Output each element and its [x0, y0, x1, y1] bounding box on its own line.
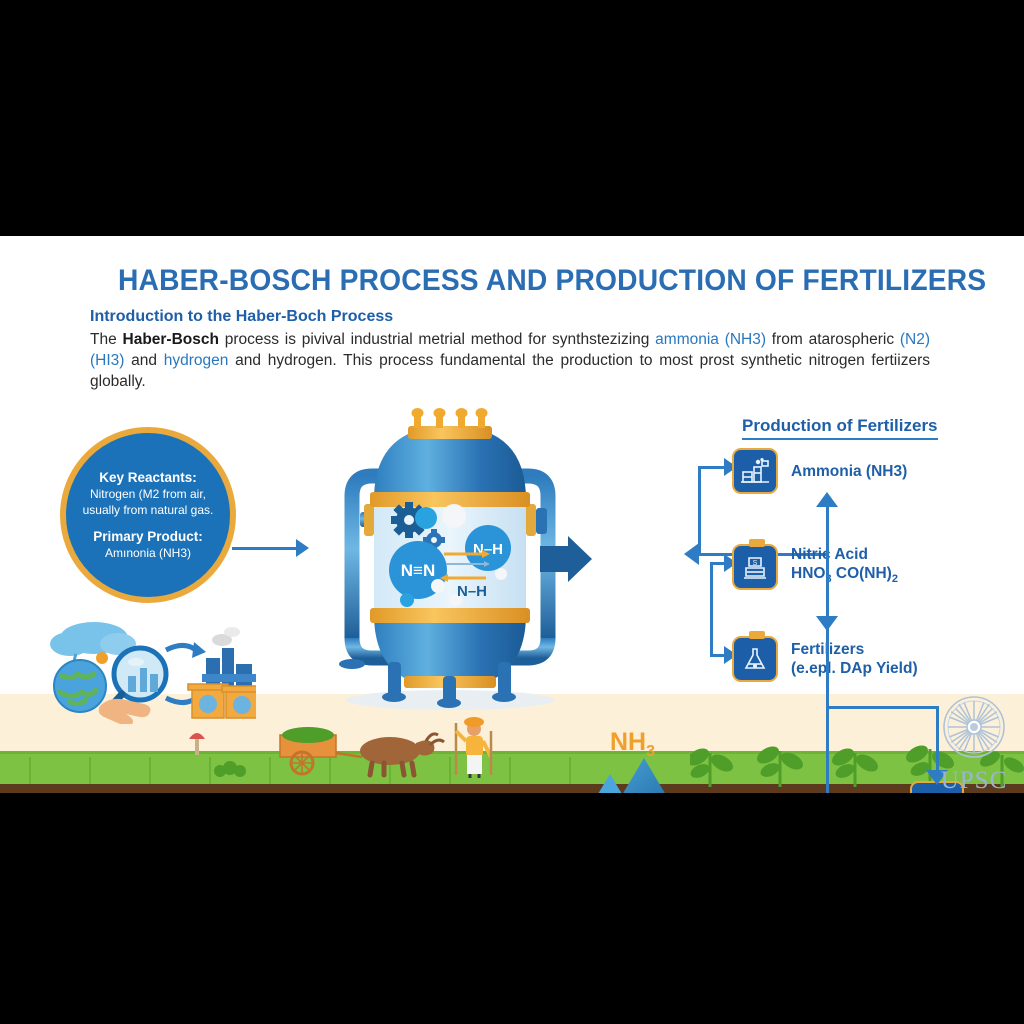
- production-label-fertilizers: Fertilizers (e.epl. DAp Yield): [791, 640, 918, 678]
- infographic-canvas: HABER-BOSCH PROCESS AND PRODUCTION OF FE…: [0, 236, 1024, 793]
- arrow-circle-to-reactor-line: [232, 547, 298, 550]
- recycler-downcomer: [826, 618, 829, 793]
- recycler-to-ammonia-head: [816, 492, 838, 507]
- upsc-logo: UPSC: [932, 694, 1016, 790]
- production-item-fertilizers[interactable]: Fertilizers (e.epl. DAp Yield): [732, 636, 918, 682]
- molecule-label-n2: N≡N: [401, 561, 435, 580]
- section-subtitle: Introduction to the Haber-Boch Process: [90, 308, 393, 326]
- column-trunk-lower: [710, 562, 713, 656]
- intro-seg-4: and: [124, 352, 163, 369]
- ashoka-chakra-icon: [941, 694, 1007, 760]
- haber-bosch-reactor: N≡N N–H N–H: [300, 408, 600, 718]
- molecule-label-nh-bottom: N–H: [457, 583, 487, 600]
- globe-icon: [54, 660, 106, 712]
- nitric-acid-formula: HNO3 CO(NH)2: [791, 564, 898, 589]
- intro-seg-1: The: [90, 331, 123, 348]
- page-title: HABER-BOSCH PROCESS AND PRODUCTION OF FE…: [118, 264, 879, 298]
- key-reactants-line1: Nitrogen (M2 from air,: [90, 487, 206, 502]
- primary-product-title: Primary Product:: [93, 529, 203, 545]
- factory-icon: [732, 448, 778, 494]
- key-reactants-line2: usually from natural gas.: [83, 503, 214, 518]
- arrow-nh3-to-column-head: [684, 543, 699, 565]
- intro-term-ammonia: ammonia (NH3): [655, 331, 766, 348]
- clipboard-clip-icon: [749, 631, 765, 639]
- cloud-icon: [50, 622, 136, 656]
- mushroom-icon: [186, 729, 208, 757]
- production-heading: Production of Fertilizers: [742, 416, 938, 440]
- clipboard-bag-icon: S: [732, 544, 778, 590]
- production-item-ammonia[interactable]: Ammonia (NH3): [732, 448, 907, 494]
- environment-illustration: [36, 614, 256, 724]
- key-reactants-title: Key Reactants:: [99, 470, 197, 486]
- oxcart-and-farmer: [276, 713, 506, 779]
- hand-icon: [99, 699, 151, 724]
- intro-paragraph: The Haber-Bosch process is pivival indus…: [90, 329, 930, 392]
- column-trunk-upper: [698, 466, 701, 554]
- environment-icon-group: [36, 614, 256, 724]
- branch-ammonia-line: [698, 466, 726, 469]
- factory-icon: [202, 627, 256, 692]
- production-item-nitric-acid[interactable]: S Nitric Acid HNO3 CO(NH)2: [732, 544, 898, 590]
- nh3-product-label: NH3 NH 3 3: [596, 728, 706, 793]
- svg-text:S: S: [753, 560, 758, 567]
- small-bush-icon: [212, 755, 248, 777]
- upsc-logo-text: UPSC: [932, 767, 1016, 793]
- clipboard-flask-icon: [732, 636, 778, 682]
- intro-seg-3: from atarosρheric: [766, 331, 900, 348]
- intro-seg-2: process is pivival industrial metrial me…: [219, 331, 655, 348]
- primary-product-line: Amınonia (NH3): [105, 546, 191, 561]
- intro-term-hydrogen: hydrogen: [164, 352, 229, 369]
- recycler-downcomer-head: [816, 616, 838, 631]
- production-label-nitric-acid: Nitric Acid HNO3 CO(NH)2: [791, 545, 898, 589]
- intro-term-haberbosch: Haber-Bosch: [123, 331, 219, 348]
- production-label-ammonia: Ammonia (NH3): [791, 462, 907, 481]
- reactor-illustration: N≡N N–H N–H: [300, 408, 600, 718]
- nh3-triangle-icon: NH 3: [596, 756, 696, 793]
- key-reactants-callout: Key Reactants: Nitrogen (M2 from air, us…: [60, 427, 236, 603]
- screenshot-root: HABER-BOSCH PROCESS AND PRODUCTION OF FE…: [0, 0, 1024, 1024]
- recycler-to-ammonia-line: [828, 706, 938, 709]
- clipboard-clip-icon: [749, 539, 765, 547]
- fertilizer-bags-icon: [188, 684, 256, 718]
